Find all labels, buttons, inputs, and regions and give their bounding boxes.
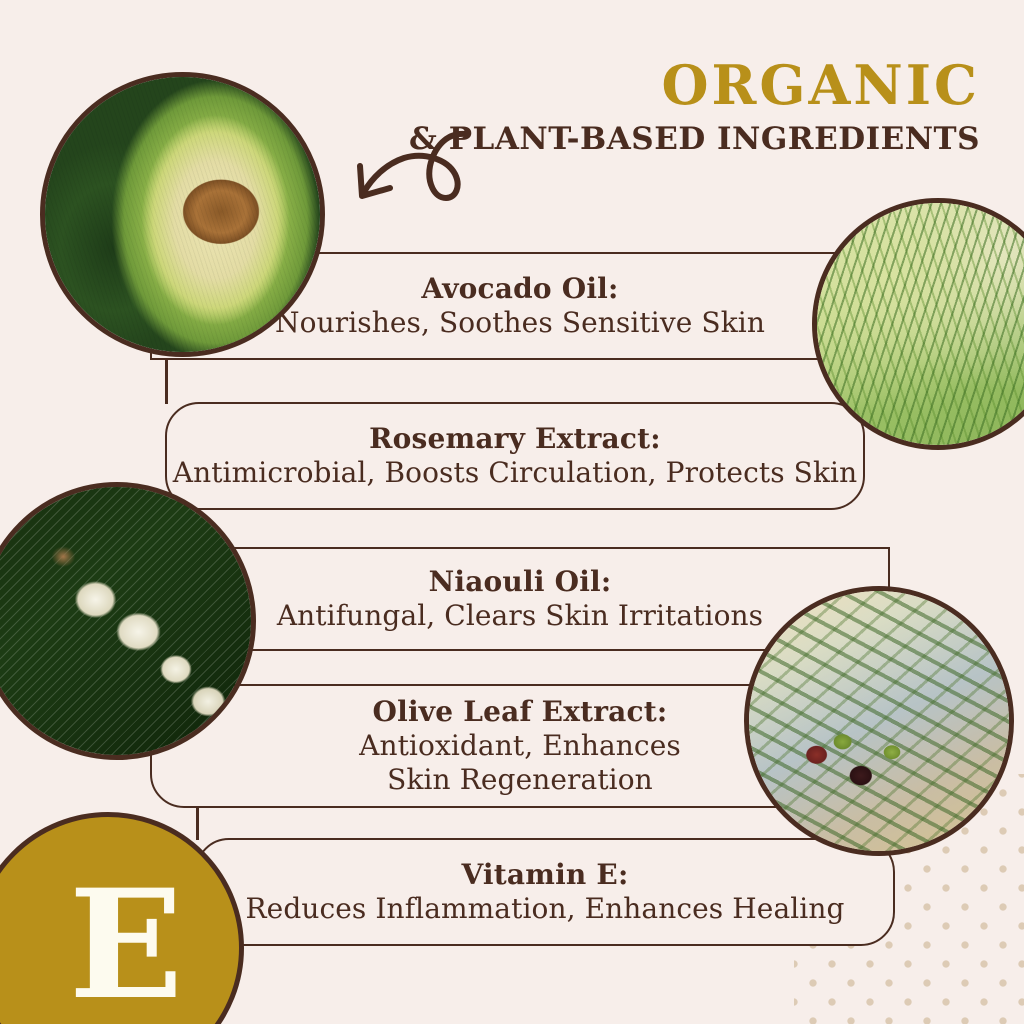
- ingredient-desc-olive-line1: Antioxidant, Enhances: [359, 730, 681, 762]
- olive-image: [749, 591, 1009, 851]
- rosemary-image: [817, 203, 1024, 445]
- header: ORGANIC & PLANT-BASED INGREDIENTS: [409, 58, 980, 155]
- vitamin-e-badge: E: [0, 812, 244, 1024]
- rosemary-photo: [812, 198, 1024, 450]
- ingredient-title-rosemary: Rosemary Extract:: [369, 423, 661, 454]
- page-title: ORGANIC: [409, 58, 980, 112]
- page-subtitle: & PLANT-BASED INGREDIENTS: [409, 124, 980, 155]
- niaouli-photo: [0, 482, 256, 760]
- olive-photo: [744, 586, 1014, 856]
- ingredient-desc-vitamin-e: Reduces Inflammation, Enhances Healing: [245, 893, 844, 925]
- ingredient-desc-olive-line2: Skin Regeneration: [387, 764, 653, 796]
- ingredient-desc-avocado: Nourishes, Soothes Sensitive Skin: [275, 307, 765, 339]
- ingredient-desc-rosemary: Antimicrobial, Boosts Circulation, Prote…: [173, 457, 857, 489]
- infographic-canvas: ORGANIC & PLANT-BASED INGREDIENTS Avocad…: [0, 0, 1024, 1024]
- connector-avocado-rosemary: [165, 360, 168, 404]
- ingredient-title-avocado: Avocado Oil:: [421, 273, 618, 304]
- ingredient-desc-niaouli: Antifungal, Clears Skin Irritations: [277, 600, 763, 632]
- ingredient-row-rosemary[interactable]: Rosemary Extract: Antimicrobial, Boosts …: [165, 402, 865, 510]
- avocado-image: [45, 77, 320, 352]
- ingredient-title-vitamin-e: Vitamin E:: [462, 859, 629, 890]
- niaouli-image: [0, 487, 251, 755]
- avocado-photo: [40, 72, 325, 357]
- ingredient-title-niaouli: Niaouli Oil:: [429, 566, 612, 597]
- connector-olive-vitamin: [196, 808, 199, 840]
- curly-arrow-icon: [342, 126, 472, 222]
- vitamin-e-letter: E: [69, 870, 183, 1020]
- ingredient-row-vitamin-e[interactable]: Vitamin E: Reduces Inflammation, Enhance…: [195, 838, 895, 946]
- ingredient-title-olive: Olive Leaf Extract:: [373, 696, 668, 727]
